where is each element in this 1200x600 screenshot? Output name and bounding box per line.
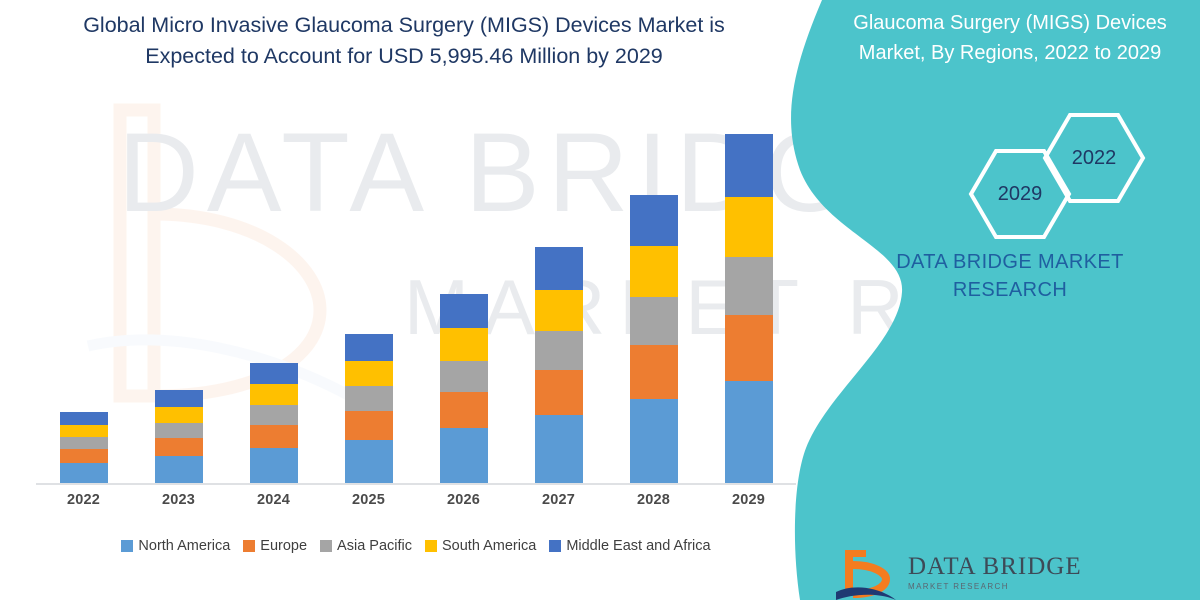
bar-segment[interactable] xyxy=(250,363,298,384)
bar-segment[interactable] xyxy=(60,463,108,484)
bar-slot xyxy=(226,110,321,484)
bar-segment[interactable] xyxy=(345,386,393,411)
legend-item[interactable]: Middle East and Africa xyxy=(549,538,710,554)
bar-segment[interactable] xyxy=(155,390,203,407)
legend-swatch-icon xyxy=(243,540,255,552)
legend-label: Europe xyxy=(260,538,307,554)
bar-segment[interactable] xyxy=(630,195,678,247)
stacked-bar-2026[interactable] xyxy=(440,294,488,484)
bar-segment[interactable] xyxy=(725,134,773,196)
legend-swatch-icon xyxy=(425,540,437,552)
legend-label: North America xyxy=(138,538,230,554)
panel-brand-line-2: RESEARCH xyxy=(820,276,1200,304)
logo-name: DATA BRIDGE xyxy=(908,554,1082,580)
legend-swatch-icon xyxy=(549,540,561,552)
bar-slot xyxy=(321,110,416,484)
bar-segment[interactable] xyxy=(250,425,298,448)
bar-segment[interactable] xyxy=(155,423,203,438)
legend-label: Asia Pacific xyxy=(337,538,412,554)
bar-segment[interactable] xyxy=(725,381,773,484)
bar-segment[interactable] xyxy=(535,247,583,289)
bar-segment[interactable] xyxy=(155,456,203,484)
chart-legend: North AmericaEuropeAsia PacificSouth Ame… xyxy=(36,538,796,554)
bar-group xyxy=(36,110,796,484)
bar-segment[interactable] xyxy=(535,331,583,370)
bar-segment[interactable] xyxy=(155,438,203,456)
bar-segment[interactable] xyxy=(630,345,678,400)
bar-segment[interactable] xyxy=(630,297,678,345)
bar-segment[interactable] xyxy=(345,334,393,361)
bar-segment[interactable] xyxy=(440,361,488,393)
bar-segment[interactable] xyxy=(440,294,488,328)
bar-segment[interactable] xyxy=(250,448,298,484)
x-axis-tick-2026: 2026 xyxy=(416,492,511,508)
bar-segment[interactable] xyxy=(535,370,583,415)
x-axis-labels: 20222023202420252026202720282029 xyxy=(36,492,796,508)
stacked-bar-2028[interactable] xyxy=(630,195,678,484)
chart-plot-area xyxy=(36,110,796,485)
bar-segment[interactable] xyxy=(630,399,678,484)
stacked-bar-2029[interactable] xyxy=(725,134,773,484)
bar-slot xyxy=(36,110,131,484)
databridge-logo: DATA BRIDGE MARKET RESEARCH xyxy=(836,548,1136,600)
databridge-bridge-logo-icon xyxy=(836,548,896,600)
x-axis-tick-2027: 2027 xyxy=(511,492,606,508)
bar-segment[interactable] xyxy=(345,411,393,440)
logo-tagline: MARKET RESEARCH xyxy=(908,582,1082,591)
x-axis-tick-2028: 2028 xyxy=(606,492,701,508)
bar-segment[interactable] xyxy=(250,384,298,405)
legend-item[interactable]: Europe xyxy=(243,538,307,554)
legend-label: South America xyxy=(442,538,536,554)
bar-segment[interactable] xyxy=(440,428,488,484)
hexagon-badges: 2022 2029 xyxy=(820,112,1200,232)
bar-segment[interactable] xyxy=(440,328,488,361)
bar-segment[interactable] xyxy=(60,412,108,425)
bar-segment[interactable] xyxy=(60,425,108,437)
bar-segment[interactable] xyxy=(440,392,488,428)
bar-segment[interactable] xyxy=(725,197,773,257)
stacked-bar-2022[interactable] xyxy=(60,412,108,484)
bar-slot xyxy=(701,110,796,484)
bar-slot xyxy=(606,110,701,484)
x-axis-tick-2029: 2029 xyxy=(701,492,796,508)
x-axis-tick-2025: 2025 xyxy=(321,492,416,508)
bar-segment[interactable] xyxy=(60,437,108,449)
legend-swatch-icon xyxy=(320,540,332,552)
bar-slot xyxy=(511,110,606,484)
stacked-bar-2024[interactable] xyxy=(250,363,298,484)
panel-brand-line-1: DATA BRIDGE MARKET xyxy=(820,248,1200,276)
bar-segment[interactable] xyxy=(630,246,678,296)
legend-item[interactable]: South America xyxy=(425,538,536,554)
bar-segment[interactable] xyxy=(725,257,773,315)
x-axis-tick-2022: 2022 xyxy=(36,492,131,508)
legend-swatch-icon xyxy=(121,540,133,552)
x-axis-line xyxy=(36,483,796,485)
legend-item[interactable]: North America xyxy=(121,538,230,554)
legend-label: Middle East and Africa xyxy=(566,538,710,554)
panel-heading: Glaucoma Surgery (MIGS) Devices Market, … xyxy=(820,8,1200,68)
infographic-root: DATA BRIDGE MARKET RESEARCH Global Micro… xyxy=(0,0,1200,600)
bar-segment[interactable] xyxy=(725,315,773,381)
bar-segment[interactable] xyxy=(345,440,393,484)
bar-slot xyxy=(131,110,226,484)
stacked-bar-2023[interactable] xyxy=(155,390,203,484)
bar-segment[interactable] xyxy=(535,290,583,331)
panel-content: Glaucoma Surgery (MIGS) Devices Market, … xyxy=(880,0,1200,600)
hex-badge-2029: 2029 xyxy=(968,148,1072,240)
panel-brand: DATA BRIDGE MARKET RESEARCH xyxy=(820,248,1200,304)
logo-text-block: DATA BRIDGE MARKET RESEARCH xyxy=(908,548,1082,591)
hex-badge-2029-label: 2029 xyxy=(968,148,1072,240)
bar-slot xyxy=(416,110,511,484)
page-title: Global Micro Invasive Glaucoma Surgery (… xyxy=(74,10,734,72)
bar-segment[interactable] xyxy=(345,361,393,387)
bar-segment[interactable] xyxy=(60,449,108,463)
legend-item[interactable]: Asia Pacific xyxy=(320,538,412,554)
x-axis-tick-2024: 2024 xyxy=(226,492,321,508)
bar-segment[interactable] xyxy=(250,405,298,425)
stacked-bar-2027[interactable] xyxy=(535,247,583,484)
x-axis-tick-2023: 2023 xyxy=(131,492,226,508)
bar-segment[interactable] xyxy=(535,415,583,484)
bar-segment[interactable] xyxy=(155,407,203,423)
stacked-bar-2025[interactable] xyxy=(345,334,393,484)
